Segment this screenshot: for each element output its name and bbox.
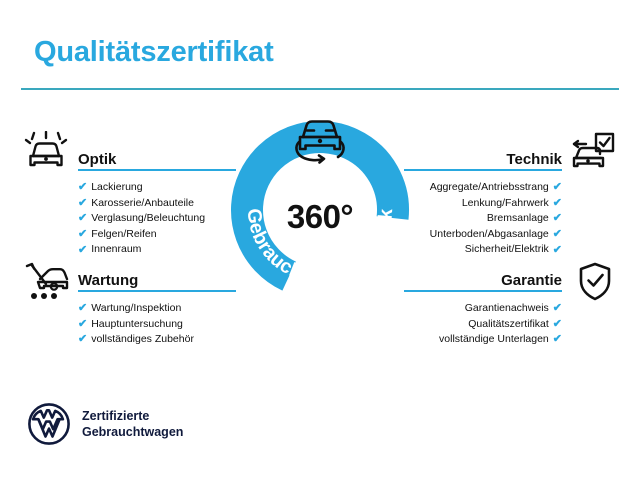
checklist-item: Garantienachweis✔	[404, 301, 562, 317]
car-shine-icon	[24, 131, 70, 173]
checklist-item-label: Felgen/Reifen	[91, 227, 156, 243]
certificate-page: Qualitätszertifikat	[0, 0, 640, 480]
car-service-icon	[24, 262, 70, 304]
check-icon: ✔	[553, 182, 562, 193]
section-header-wartung: Wartung	[78, 266, 236, 292]
section-underline-optik	[78, 169, 236, 171]
check-icon: ✔	[78, 182, 87, 193]
checklist-item-label: Sicherheit/Elektrik	[465, 242, 549, 258]
section-title-wartung: Wartung	[78, 272, 138, 289]
check-icon: ✔	[553, 303, 562, 314]
section-header-optik: Optik	[78, 145, 236, 171]
checklist-item: ✔Felgen/Reifen	[78, 227, 236, 243]
check-icon: ✔	[553, 229, 562, 240]
footer-text: Zertifizierte Gebrauchtwagen	[82, 408, 183, 440]
checklist-item-label: Garantienachweis	[465, 301, 549, 317]
checklist-item-label: Wartung/Inspektion	[91, 301, 181, 317]
checklist-item: ✔Karosserie/Anbauteile	[78, 196, 236, 212]
checklist-item: Qualitätszertifikat✔	[404, 317, 562, 333]
check-icon: ✔	[78, 213, 87, 224]
checklist-optik: ✔Lackierung✔Karosserie/Anbauteile✔Vergla…	[78, 180, 236, 258]
section-header-garantie: Garantie	[404, 266, 562, 292]
checklist-item: ✔Innenraum	[78, 242, 236, 258]
check-icon: ✔	[553, 213, 562, 224]
page-title: Qualitätszertifikat	[34, 36, 274, 69]
check-icon: ✔	[553, 334, 562, 345]
checklist-item: Lenkung/Fahrwerk✔	[404, 196, 562, 212]
badge-360-gebrauchtwagen-check: Gebrauchtwagen-Check 360°	[226, 116, 414, 304]
check-icon: ✔	[553, 319, 562, 330]
checklist-item-label: Hauptuntersuchung	[91, 317, 183, 333]
check-icon: ✔	[78, 303, 87, 314]
section-underline-garantie	[404, 290, 562, 292]
vw-logo-icon	[28, 403, 70, 445]
checklist-item: ✔Wartung/Inspektion	[78, 301, 236, 317]
checklist-item-label: Unterboden/Abgasanlage	[430, 227, 549, 243]
checklist-item: ✔Hauptuntersuchung	[78, 317, 236, 333]
check-icon: ✔	[78, 334, 87, 345]
checklist-item: vollständige Unterlagen✔	[404, 332, 562, 348]
checklist-item-label: vollständiges Zubehör	[91, 332, 194, 348]
car-rotation-icon	[283, 110, 357, 174]
section-garantie: GarantieGarantienachweis✔Qualitätszertif…	[404, 266, 562, 348]
footer-brand: Zertifizierte Gebrauchtwagen	[28, 403, 183, 445]
check-icon: ✔	[78, 229, 87, 240]
section-underline-wartung	[78, 290, 236, 292]
section-wartung: Wartung✔Wartung/Inspektion✔Hauptuntersuc…	[78, 266, 236, 348]
checklist-item: Unterboden/Abgasanlage✔	[404, 227, 562, 243]
check-icon: ✔	[78, 245, 87, 256]
checklist-garantie: Garantienachweis✔Qualitätszertifikat✔vol…	[404, 301, 562, 348]
checklist-item-label: Bremsanlage	[487, 211, 549, 227]
section-optik: Optik✔Lackierung✔Karosserie/Anbauteile✔V…	[78, 145, 236, 258]
checklist-technik: Aggregate/Antriebsstrang✔Lenkung/Fahrwer…	[404, 180, 562, 258]
checklist-item: Aggregate/Antriebsstrang✔	[404, 180, 562, 196]
check-icon: ✔	[553, 245, 562, 256]
checklist-wartung: ✔Wartung/Inspektion✔Hauptuntersuchung✔vo…	[78, 301, 236, 348]
checklist-item-label: Lackierung	[91, 180, 142, 196]
check-icon: ✔	[78, 198, 87, 209]
checklist-item-label: Lenkung/Fahrwerk	[462, 196, 549, 212]
section-title-optik: Optik	[78, 151, 116, 168]
checklist-item: ✔Verglasung/Beleuchtung	[78, 211, 236, 227]
checklist-item: ✔vollständiges Zubehör	[78, 332, 236, 348]
checklist-item-label: vollständige Unterlagen	[439, 332, 549, 348]
section-title-technik: Technik	[506, 151, 562, 168]
car-checkbox-icon	[570, 131, 616, 173]
checklist-item: Bremsanlage✔	[404, 211, 562, 227]
checklist-item-label: Karosserie/Anbauteile	[91, 196, 194, 212]
checklist-item-label: Aggregate/Antriebsstrang	[430, 180, 549, 196]
shield-check-icon	[572, 261, 618, 303]
checklist-item-label: Verglasung/Beleuchtung	[91, 211, 205, 227]
checklist-item: Sicherheit/Elektrik✔	[404, 242, 562, 258]
checklist-item: ✔Lackierung	[78, 180, 236, 196]
footer-line-1: Zertifizierte	[82, 408, 183, 424]
section-technik: TechnikAggregate/Antriebsstrang✔Lenkung/…	[404, 145, 562, 258]
section-header-technik: Technik	[404, 145, 562, 171]
section-underline-technik	[404, 169, 562, 171]
checklist-item-label: Qualitätszertifikat	[468, 317, 549, 333]
checklist-item-label: Innenraum	[91, 242, 141, 258]
section-title-garantie: Garantie	[501, 272, 562, 289]
title-divider	[21, 88, 619, 90]
footer-line-2: Gebrauchtwagen	[82, 424, 183, 440]
check-icon: ✔	[553, 198, 562, 209]
check-icon: ✔	[78, 319, 87, 330]
